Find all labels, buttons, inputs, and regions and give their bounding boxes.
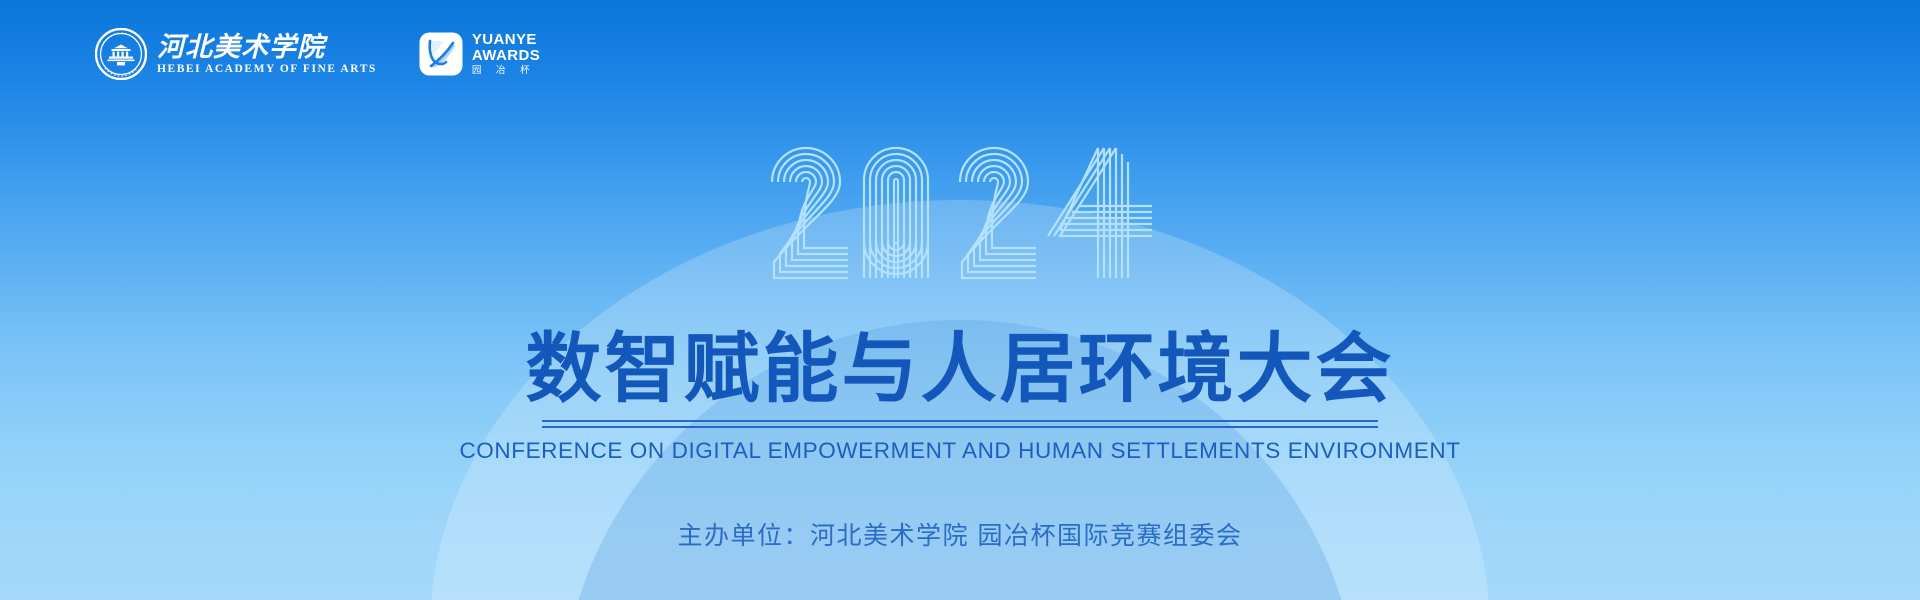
page-title: 数智赋能与人居环境大会 <box>420 330 1500 409</box>
hebei-academy-name-en: HEBEI ACADEMY OF FINE ARTS <box>157 64 377 76</box>
hebei-academy-name-cn: 河北美术学院 <box>157 32 377 62</box>
divider-rule-top <box>542 420 1378 422</box>
page-subtitle-en: CONFERENCE ON DIGITAL EMPOWERMENT AND HU… <box>420 438 1500 464</box>
year-2024-artwork <box>760 136 1160 286</box>
hebei-academy-logo: 河北美术学院 HEBEI ACADEMY OF FINE ARTS <box>95 28 377 80</box>
hebei-academy-emblem-icon <box>95 28 147 80</box>
yuanye-line-3-cn: 园 冶 杯 <box>472 66 540 76</box>
yuanye-line-2: AWARDS <box>472 48 540 63</box>
title-divider-rules <box>542 420 1378 428</box>
yuanye-line-1: YUANYE <box>472 32 540 47</box>
yuanye-awards-logo: YUANYE AWARDS 园 冶 杯 <box>419 32 540 76</box>
hebei-academy-wordmark: 河北美术学院 HEBEI ACADEMY OF FINE ARTS <box>157 32 377 76</box>
logo-bar: 河北美术学院 HEBEI ACADEMY OF FINE ARTS YUANYE… <box>95 28 540 80</box>
svg-text:河北美术学院: 河北美术学院 <box>157 32 329 62</box>
conference-banner: 河北美术学院 HEBEI ACADEMY OF FINE ARTS YUANYE… <box>0 0 1920 600</box>
yuanye-awards-wordmark: YUANYE AWARDS 园 冶 杯 <box>472 32 540 76</box>
yuanye-awards-mark-icon <box>419 32 463 76</box>
divider-rule-bottom <box>542 426 1378 428</box>
hero-text-block: 数智赋能与人居环境大会 CONFERENCE ON DIGITAL EMPOWE… <box>420 330 1500 552</box>
organizer-line: 主办单位：河北美术学院 园冶杯国际竞赛组委会 <box>420 516 1500 552</box>
